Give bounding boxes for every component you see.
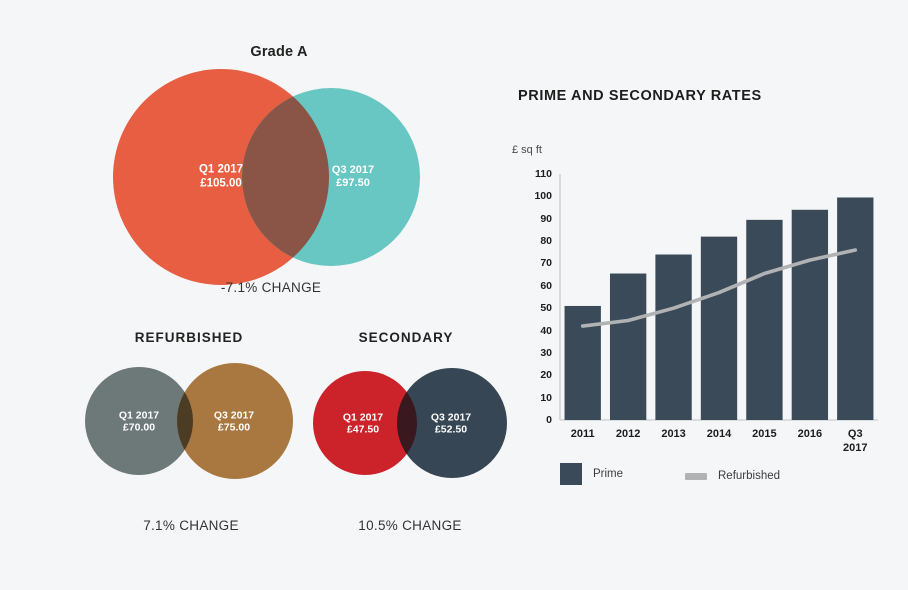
chart-plot-area	[500, 172, 900, 432]
x-tick-2012: 2012	[616, 428, 640, 442]
legend-swatch-prime	[560, 463, 582, 485]
x-tick-2011: 2011	[571, 428, 595, 442]
venn-secondary: SECONDARY Q1 2017 £47.50 Q3 2017 £52.50 …	[313, 330, 513, 540]
venn-secondary-change: 10.5% CHANGE	[310, 518, 510, 533]
venn-refurbished-diagram	[83, 363, 295, 479]
bar-2016	[792, 210, 828, 420]
venn-secondary-diagram	[313, 368, 513, 478]
x-tick-2014: 2014	[707, 428, 731, 442]
x-tick-2016: 2016	[798, 428, 822, 442]
venn-grade-a-diagram	[113, 66, 445, 288]
legend-label-refurbished: Refurbished	[718, 470, 780, 482]
bar-2013	[655, 255, 691, 420]
bar-Q3-2017	[837, 197, 873, 420]
infographic-canvas: Grade A Q1 2017 £105.00 Q3 2017 £97.50 -…	[0, 0, 908, 590]
legend-item-prime: Prime	[560, 463, 623, 485]
venn-circle-right	[177, 363, 293, 479]
venn-refurbished-change: 7.1% CHANGE	[85, 518, 297, 533]
legend-item-refurbished: Refurbished	[685, 470, 780, 482]
prime-secondary-chart: PRIME AND SECONDARY RATES £ sq ft 010203…	[500, 80, 900, 490]
x-tick-2013: 2013	[661, 428, 685, 442]
x-tick-Q3-2017: Q3 2017	[843, 428, 867, 456]
chart-title: PRIME AND SECONDARY RATES	[518, 88, 762, 104]
bar-2015	[746, 220, 782, 420]
x-tick-2015: 2015	[752, 428, 776, 442]
venn-refurbished-title: REFURBISHED	[83, 330, 295, 345]
legend-label-prime: Prime	[593, 468, 623, 480]
legend-swatch-refurbished	[685, 473, 707, 480]
venn-grade-a-title: Grade A	[113, 44, 445, 60]
bar-series-prime	[565, 197, 874, 420]
venn-circle-left	[85, 367, 193, 475]
bar-2014	[701, 237, 737, 420]
venn-grade-a: Grade A Q1 2017 £105.00 Q3 2017 £97.50 -…	[113, 44, 445, 304]
bar-2012	[610, 274, 646, 420]
venn-grade-a-change: -7.1% CHANGE	[105, 280, 437, 295]
venn-secondary-title: SECONDARY	[306, 330, 506, 345]
y-axis-unit-label: £ sq ft	[512, 144, 542, 156]
venn-refurbished: REFURBISHED Q1 2017 £70.00 Q3 2017 £75.0…	[83, 330, 295, 540]
